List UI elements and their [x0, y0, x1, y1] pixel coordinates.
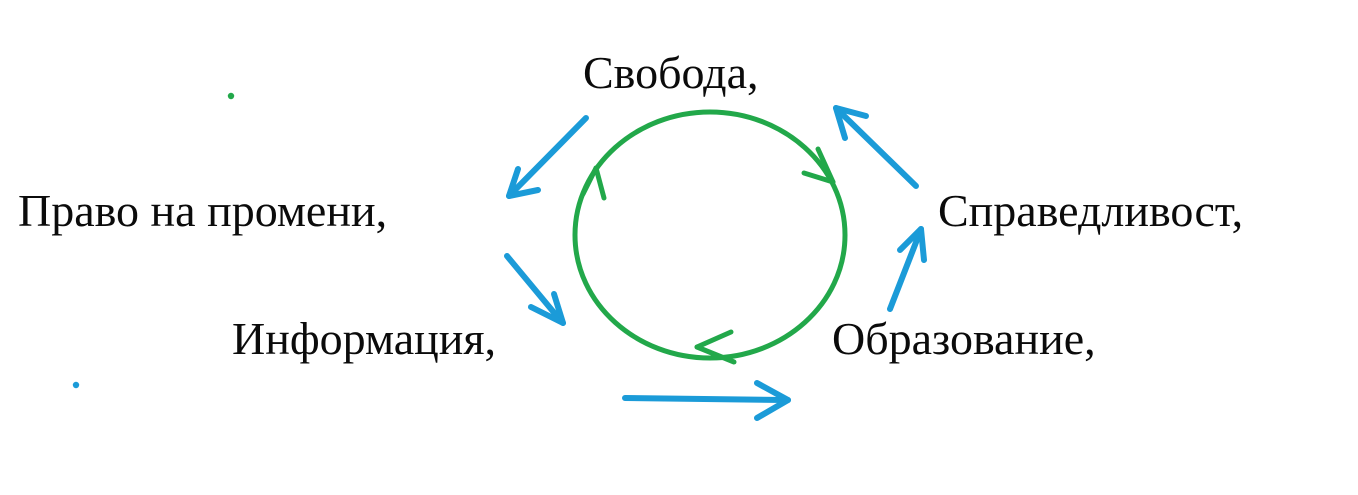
blue-dot-mark: [73, 382, 79, 388]
cycle-ring-group: [575, 112, 845, 362]
green-dot-mark: [228, 93, 234, 99]
node-label-svoboda: Свобода,: [583, 50, 759, 96]
cycle-ring-arc: [575, 112, 845, 358]
node-label-obrazovanie: Образование,: [832, 316, 1096, 362]
arrow-obrazovanie-to-spravedlivost-icon: [890, 229, 924, 309]
arrow-svoboda-to-pravo-icon: [509, 118, 586, 196]
diagram-canvas: Свобода, Справедливост, Образование, Инф…: [0, 0, 1358, 495]
arrow-pravo-to-informacia-icon: [507, 256, 563, 323]
arrow-spravedlivost-to-svoboda-icon: [836, 108, 916, 186]
node-label-spravedlivost: Справедливост,: [938, 188, 1243, 234]
ring-arrow-upper-left-icon: [583, 168, 604, 198]
node-label-informacia: Информация,: [232, 316, 496, 362]
arrow-informacia-to-obrazovanie-icon: [625, 383, 788, 418]
node-label-pravo-na-promeni: Право на промени,: [18, 188, 387, 234]
